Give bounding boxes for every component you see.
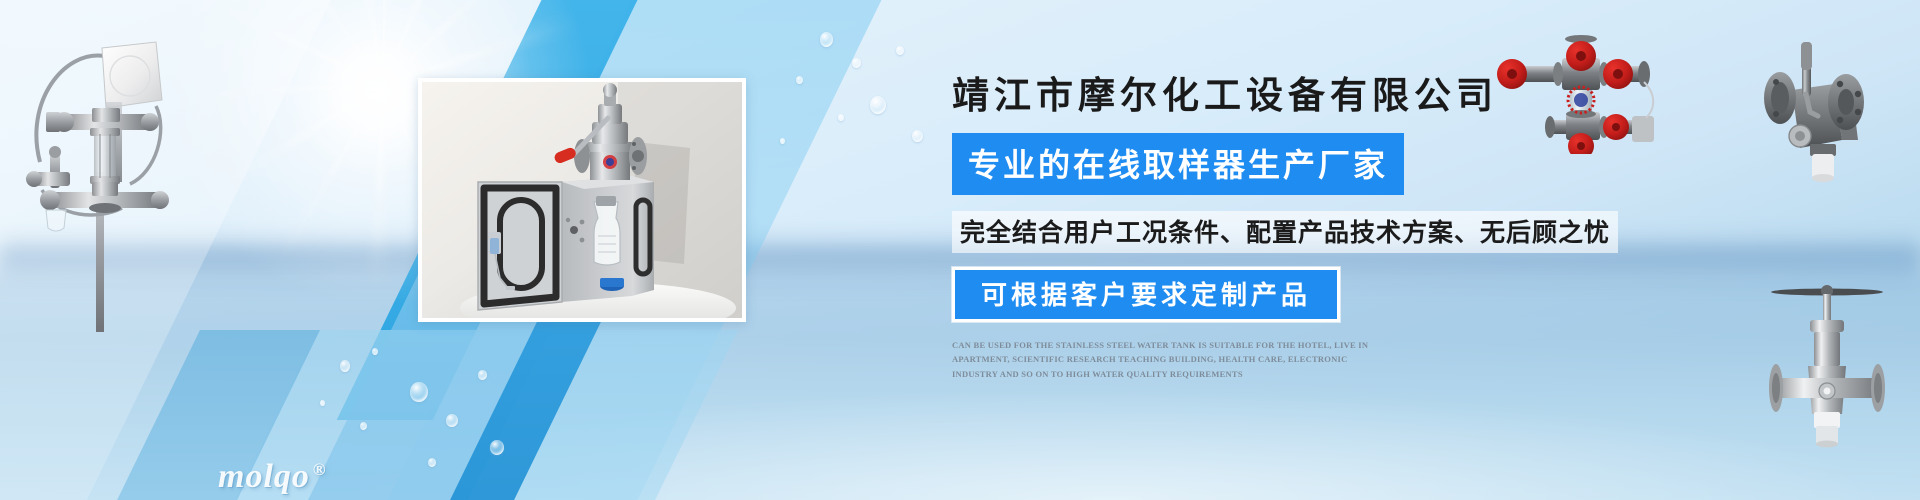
product-photo <box>422 82 742 318</box>
right-bottom-valve-image <box>1752 278 1902 448</box>
english-description: CAN BE USED FOR THE STAINLESS STEEL WATE… <box>952 338 1370 383</box>
sub-headline: 完全结合用户工况条件、配置产品技术方案、无后顾之忧 <box>952 211 1618 253</box>
sampler-pole-illustration <box>6 22 196 332</box>
headline-badge: 专业的在线取样器生产厂家 <box>952 133 1404 195</box>
headline-text-block: 靖江市摩尔化工设备有限公司 专业的在线取样器生产厂家 完全结合用户工况条件、配置… <box>952 76 1712 382</box>
company-name: 靖江市摩尔化工设备有限公司 <box>952 76 1712 119</box>
flanged-sampling-valve-illustration <box>1752 278 1902 448</box>
registered-mark-icon: ® <box>313 460 327 479</box>
right-lever-valve-image <box>1718 28 1900 188</box>
brand-watermark: molqo® <box>218 458 327 496</box>
lever-valve-illustration <box>1718 28 1900 188</box>
product-photo-frame <box>418 78 746 322</box>
watermark-text: molqo <box>218 458 310 495</box>
left-equipment-image <box>6 22 196 332</box>
custom-product-badge: 可根据客户要求定制产品 <box>952 267 1340 322</box>
sampling-cabinet-illustration <box>422 82 742 318</box>
water-droplets-bottom <box>300 330 530 500</box>
promo-banner: 靖江市摩尔化工设备有限公司 专业的在线取样器生产厂家 完全结合用户工况条件、配置… <box>0 0 1920 500</box>
handwheel-top <box>1566 41 1596 71</box>
